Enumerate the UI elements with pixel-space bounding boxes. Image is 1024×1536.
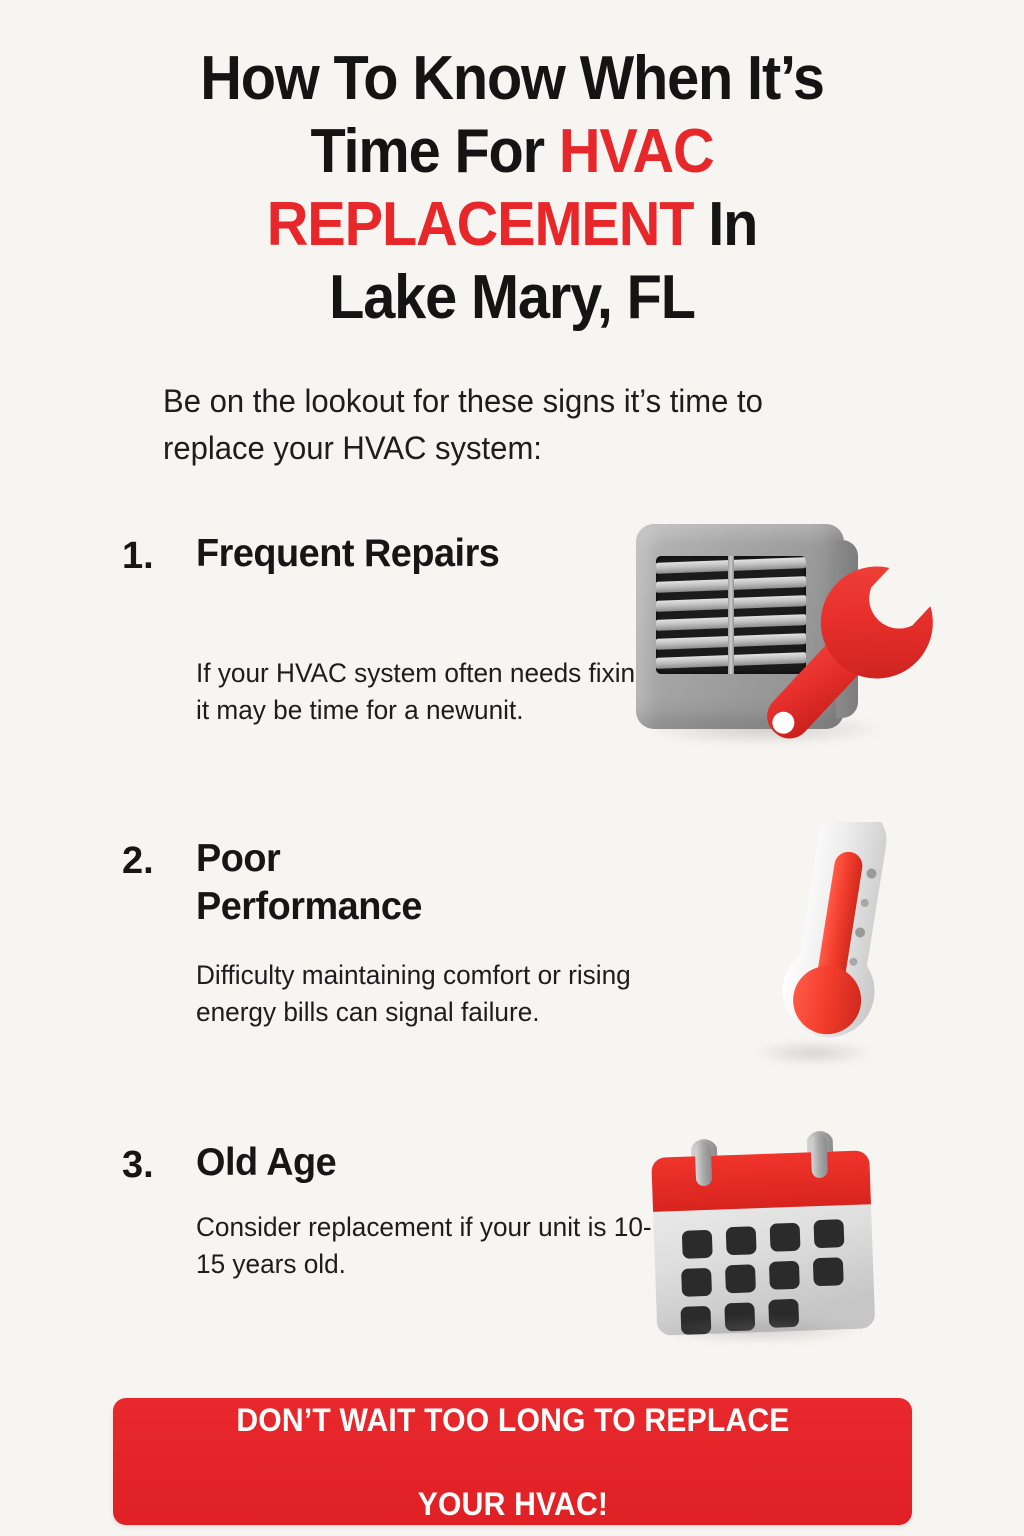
cta-line-1: DON’T WAIT TOO LONG TO REPLACE xyxy=(236,1399,789,1441)
wrench-icon xyxy=(738,540,943,785)
infographic-page: How To Know When It’s Time For HVAC REPL… xyxy=(0,0,1024,1536)
list-item-heading-3: Old Age xyxy=(196,1139,516,1187)
list-item-heading-2: Poor Performance xyxy=(196,835,516,931)
title-highlight-hvac: HVAC xyxy=(559,117,714,186)
list-item-body-2: Difficulty maintaining comfort or rising… xyxy=(196,957,691,1031)
calendar-icon xyxy=(638,1118,888,1353)
title-line-4: Lake Mary, FL xyxy=(329,263,695,332)
page-title: How To Know When It’s Time For HVAC REPL… xyxy=(125,42,899,334)
cta-line-2: YOUR HVAC! xyxy=(236,1483,789,1525)
hvac-unit-wrench-icon xyxy=(618,512,958,787)
subtitle: Be on the lookout for these signs it’s t… xyxy=(163,378,842,472)
thermometer-icon xyxy=(735,822,925,1077)
title-line-2-prefix: Time For xyxy=(310,117,558,186)
list-item-heading-1: Frequent Repairs xyxy=(196,530,516,578)
title-highlight-replacement: REPLACEMENT xyxy=(267,190,694,259)
thermometer-shadow xyxy=(753,1040,873,1066)
title-line-1: How To Know When It’s xyxy=(200,44,824,113)
thermometer-glyph xyxy=(735,822,925,1077)
title-line-3-suffix: In xyxy=(693,190,757,259)
list-item-number-2: 2. xyxy=(122,838,154,884)
hvac-vent-post xyxy=(728,556,734,674)
list-item-number-3: 3. xyxy=(122,1142,154,1188)
list-item-number-1: 1. xyxy=(122,533,154,579)
cta-banner[interactable]: DON’T WAIT TOO LONG TO REPLACE YOUR HVAC… xyxy=(113,1398,912,1525)
cta-text: DON’T WAIT TOO LONG TO REPLACE YOUR HVAC… xyxy=(227,1399,797,1525)
calendar-shadow xyxy=(652,1316,867,1344)
list-item-body-1: If your HVAC system often needs fixing, … xyxy=(196,655,662,729)
list-item-body-3: Consider replacement if your unit is 10-… xyxy=(196,1209,662,1283)
